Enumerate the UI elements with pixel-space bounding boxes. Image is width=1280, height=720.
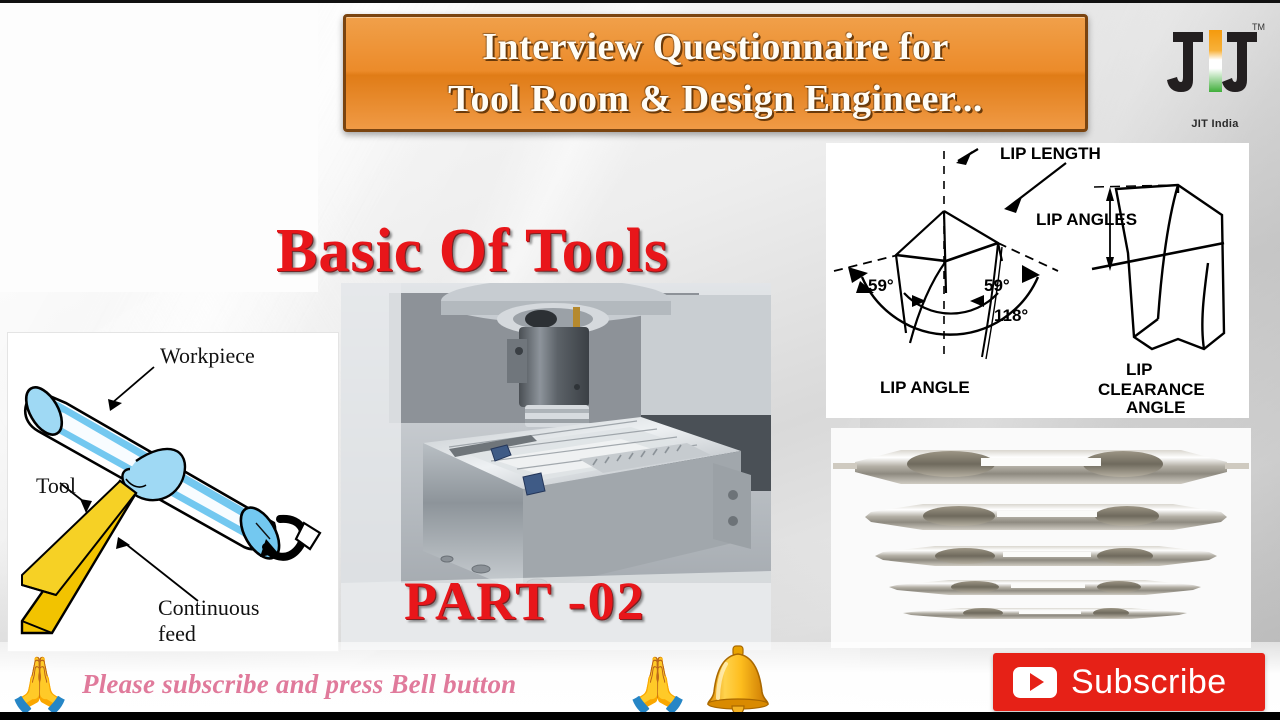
center-drill-set-panel: [831, 428, 1251, 648]
subscribe-button[interactable]: Subscribe: [993, 653, 1265, 711]
drill-geometry-drawing: LIP LENGTH LIP ANGLES 59° 59° 118° LIP A…: [826, 143, 1249, 418]
bell-icon[interactable]: [700, 644, 776, 716]
trademark-symbol: TM: [1252, 22, 1265, 32]
center-drills-drawing: [831, 428, 1251, 648]
turning-diagram-drawing: Workpiece Tool Continuous feed: [8, 333, 338, 651]
video-thumbnail: Interview Questionnaire for Tool Room & …: [0, 0, 1280, 720]
title-line-1: Interview Questionnaire for: [482, 21, 949, 73]
label-feed-1: Continuous: [158, 595, 259, 620]
turning-operation-panel: Workpiece Tool Continuous feed: [8, 333, 338, 651]
label-lip-angles: LIP ANGLES: [1036, 210, 1137, 229]
label-workpiece: Workpiece: [160, 343, 255, 368]
jit-india-logo: TM JIT India: [1163, 18, 1267, 130]
bottom-edge-bar: [0, 712, 1280, 720]
footer-bar: 🙏 🙏 Please subscribe and pr: [0, 642, 1280, 720]
label-tool: Tool: [36, 473, 76, 498]
drill-point-geometry-panel: LIP LENGTH LIP ANGLES 59° 59° 118° LIP A…: [826, 143, 1249, 418]
part-label: PART -02: [404, 570, 646, 632]
injection-mould-image: [0, 0, 318, 292]
label-lip-length: LIP LENGTH: [1000, 144, 1101, 163]
subscribe-button-label: Subscribe: [1071, 663, 1227, 702]
label-clearance-2: CLEARANCE: [1098, 380, 1205, 399]
label-angle-included: 118°: [994, 306, 1028, 325]
label-clearance-3: ANGLE: [1126, 398, 1186, 417]
youtube-play-icon: [1013, 667, 1057, 698]
title-line-2: Tool Room & Design Engineer...: [448, 73, 983, 125]
label-angle-left: 59°: [868, 276, 894, 295]
top-edge-bar: [0, 0, 1280, 3]
label-lip-angle: LIP ANGLE: [880, 378, 970, 397]
title-banner: Interview Questionnaire for Tool Room & …: [343, 14, 1088, 132]
subscribe-message: Please subscribe and press Bell button: [82, 669, 516, 700]
label-angle-right: 59°: [984, 276, 1010, 295]
label-clearance-1: LIP: [1126, 360, 1152, 379]
folded-hands-icon: 🙏: [6, 658, 73, 712]
folded-hands-icon: 🙏: [624, 658, 691, 712]
logo-caption: JIT India: [1163, 118, 1267, 130]
page-title: Basic Of Tools: [276, 216, 669, 287]
